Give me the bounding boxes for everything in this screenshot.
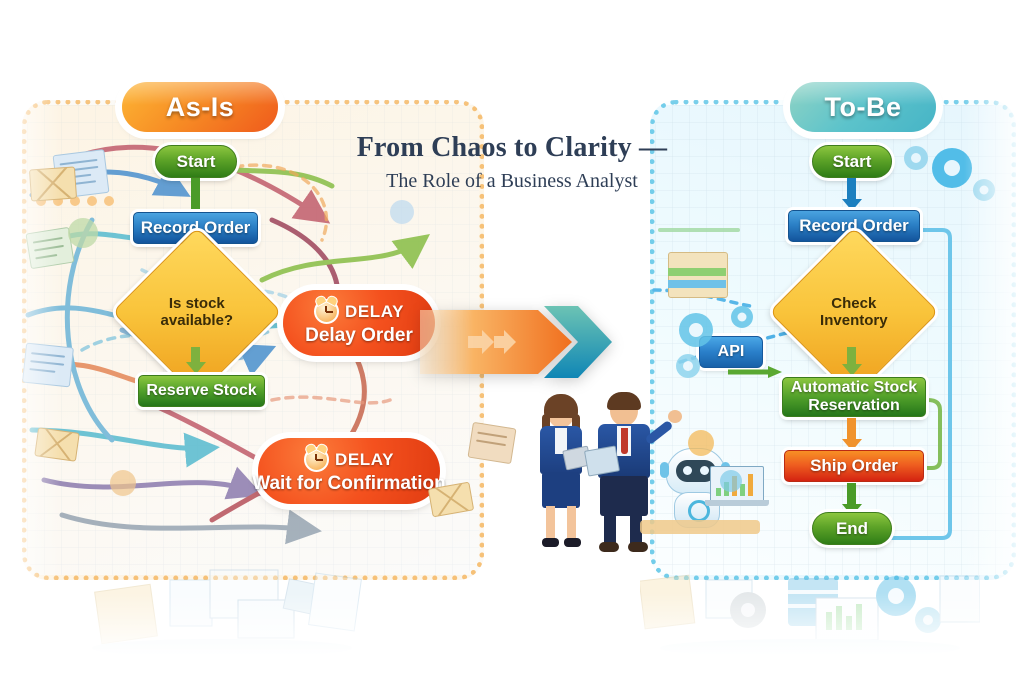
api-badge-label: API	[718, 343, 745, 361]
delay-confirm-badge: DELAY	[335, 450, 394, 470]
delay-order-label: Delay Order	[305, 325, 413, 347]
vignette-left	[0, 0, 60, 683]
as-is-start-label: Start	[177, 152, 216, 172]
to-be-arrow-check-to-auto	[847, 347, 856, 365]
delay-confirm-label: Wait for Confirmation	[252, 473, 446, 495]
to-be-end-label: End	[836, 519, 868, 539]
infographic-canvas: As-Is To-Be From Chaos to Clarity — The …	[0, 0, 1024, 683]
to-be-arrow-ship-to-end	[847, 483, 856, 505]
to-be-node-end[interactable]: End	[812, 512, 892, 545]
as-is-arrow-start-to-record	[191, 178, 200, 210]
illustration-business-analysts	[524, 392, 760, 564]
vignette-right	[964, 0, 1024, 683]
delay-confirm-badge-row: DELAY	[304, 447, 394, 472]
to-be-arrow-auto-to-ship	[847, 418, 856, 440]
tablet-icon	[584, 445, 620, 476]
api-badge[interactable]: API	[699, 336, 763, 368]
delay-order-badge-row: DELAY	[314, 299, 404, 324]
vignette-bottom	[0, 593, 1024, 683]
title-block: From Chaos to Clarity — The Role of a Bu…	[312, 132, 712, 193]
to-be-automatic-stock-reservation-label: Automatic Stock Reservation	[783, 379, 925, 415]
page-subtitle: The Role of a Business Analyst	[312, 170, 712, 193]
as-is-delay-order[interactable]: DELAY Delay Order	[283, 290, 435, 356]
as-is-node-start[interactable]: Start	[155, 145, 237, 178]
to-be-node-start[interactable]: Start	[812, 145, 892, 178]
vignette-top	[0, 0, 1024, 105]
as-is-arrow-stock-to-reserve	[191, 347, 200, 363]
to-be-check-inventory-label: Check Inventory	[802, 295, 906, 330]
as-is-reserve-stock-label: Reserve Stock	[146, 382, 256, 400]
alarm-clock-icon	[314, 299, 339, 324]
as-is-node-reserve-stock[interactable]: Reserve Stock	[138, 375, 265, 407]
to-be-node-ship-order[interactable]: Ship Order	[784, 450, 924, 482]
delay-order-badge: DELAY	[345, 302, 404, 322]
to-be-arrow-start-to-record	[847, 178, 856, 200]
to-be-ship-order-label: Ship Order	[810, 456, 898, 476]
to-be-start-label: Start	[833, 152, 872, 172]
transformation-arrow	[420, 292, 620, 392]
as-is-delay-wait-for-confirmation[interactable]: DELAY Wait for Confirmation	[258, 438, 440, 504]
desk-surface	[640, 520, 760, 534]
page-title: From Chaos to Clarity —	[312, 132, 712, 164]
to-be-node-automatic-stock-reservation[interactable]: Automatic Stock Reservation	[782, 377, 926, 417]
as-is-is-stock-available-label: Is stock available?	[145, 295, 249, 330]
alarm-clock-icon	[304, 447, 329, 472]
